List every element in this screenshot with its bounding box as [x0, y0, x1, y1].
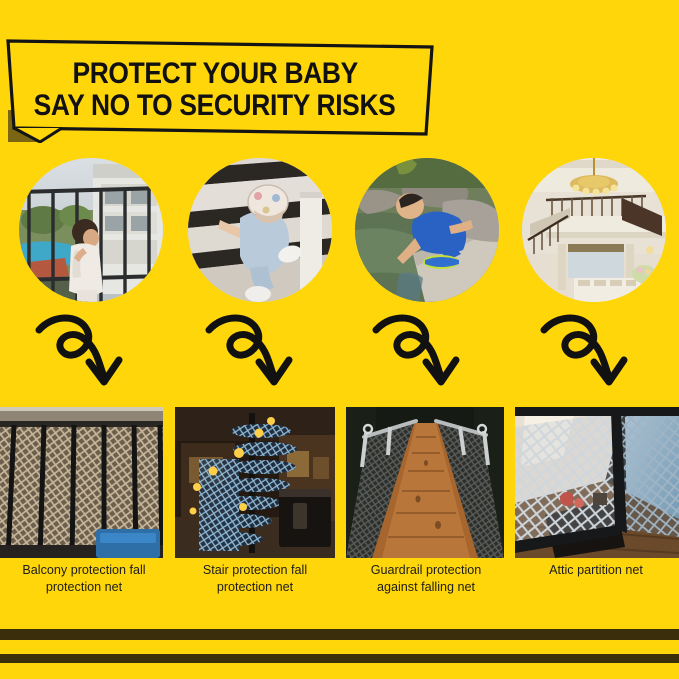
product-caption-guardrail-net: Guardrail protection against falling net — [344, 562, 508, 596]
banner-text-block: PROTECT YOUR BABY SAY NO TO SECURITY RIS… — [0, 38, 430, 143]
headline-banner: PROTECT YOUR BABY SAY NO TO SECURITY RIS… — [0, 38, 440, 143]
hazard-photo-baby-climbing-stairs — [188, 158, 332, 302]
balcony-net-image — [0, 407, 163, 558]
curly-down-arrow-icon — [540, 312, 650, 392]
hazard-photo-child-at-pond-edge — [355, 158, 499, 302]
hazard-photo-row — [0, 158, 679, 304]
product-photo-balcony-net — [0, 407, 163, 558]
infographic-page: PROTECT YOUR BABY SAY NO TO SECURITY RIS… — [0, 0, 679, 679]
product-caption-balcony-net: Balcony protection fall protection net — [2, 562, 166, 596]
footer-stripe-upper — [0, 629, 679, 640]
product-caption-stair-net: Stair protection fall protection net — [173, 562, 337, 596]
product-photo-guardrail-net — [346, 407, 504, 558]
child-at-pond-edge-image — [355, 158, 499, 302]
headline-line-1: PROTECT YOUR BABY — [72, 59, 357, 90]
guardrail-net-image — [346, 407, 504, 558]
product-caption-attic-net: Attic partition net — [513, 562, 679, 579]
product-photo-attic-net — [515, 407, 679, 558]
hazard-photo-open-loft-railing-interior — [522, 158, 666, 302]
curly-down-arrow-icon — [205, 312, 315, 392]
curly-down-arrow-icon — [372, 312, 482, 392]
product-photo-row — [0, 407, 679, 558]
product-caption-row: Balcony protection fall protection net S… — [0, 562, 679, 608]
product-photo-stair-net — [175, 407, 335, 558]
hazard-photo-balcony-railing-toddler — [19, 158, 163, 302]
footer-stripe-lower — [0, 654, 679, 663]
stair-net-image — [175, 407, 335, 558]
attic-net-image — [515, 407, 679, 558]
curly-down-arrow-icon — [35, 312, 145, 392]
arrow-row — [0, 312, 679, 394]
balcony-railing-toddler-image — [19, 158, 163, 302]
open-loft-railing-interior-image — [522, 158, 666, 302]
baby-climbing-stairs-image — [188, 158, 332, 302]
headline-line-2: SAY NO TO SECURITY RISKS — [34, 91, 396, 122]
